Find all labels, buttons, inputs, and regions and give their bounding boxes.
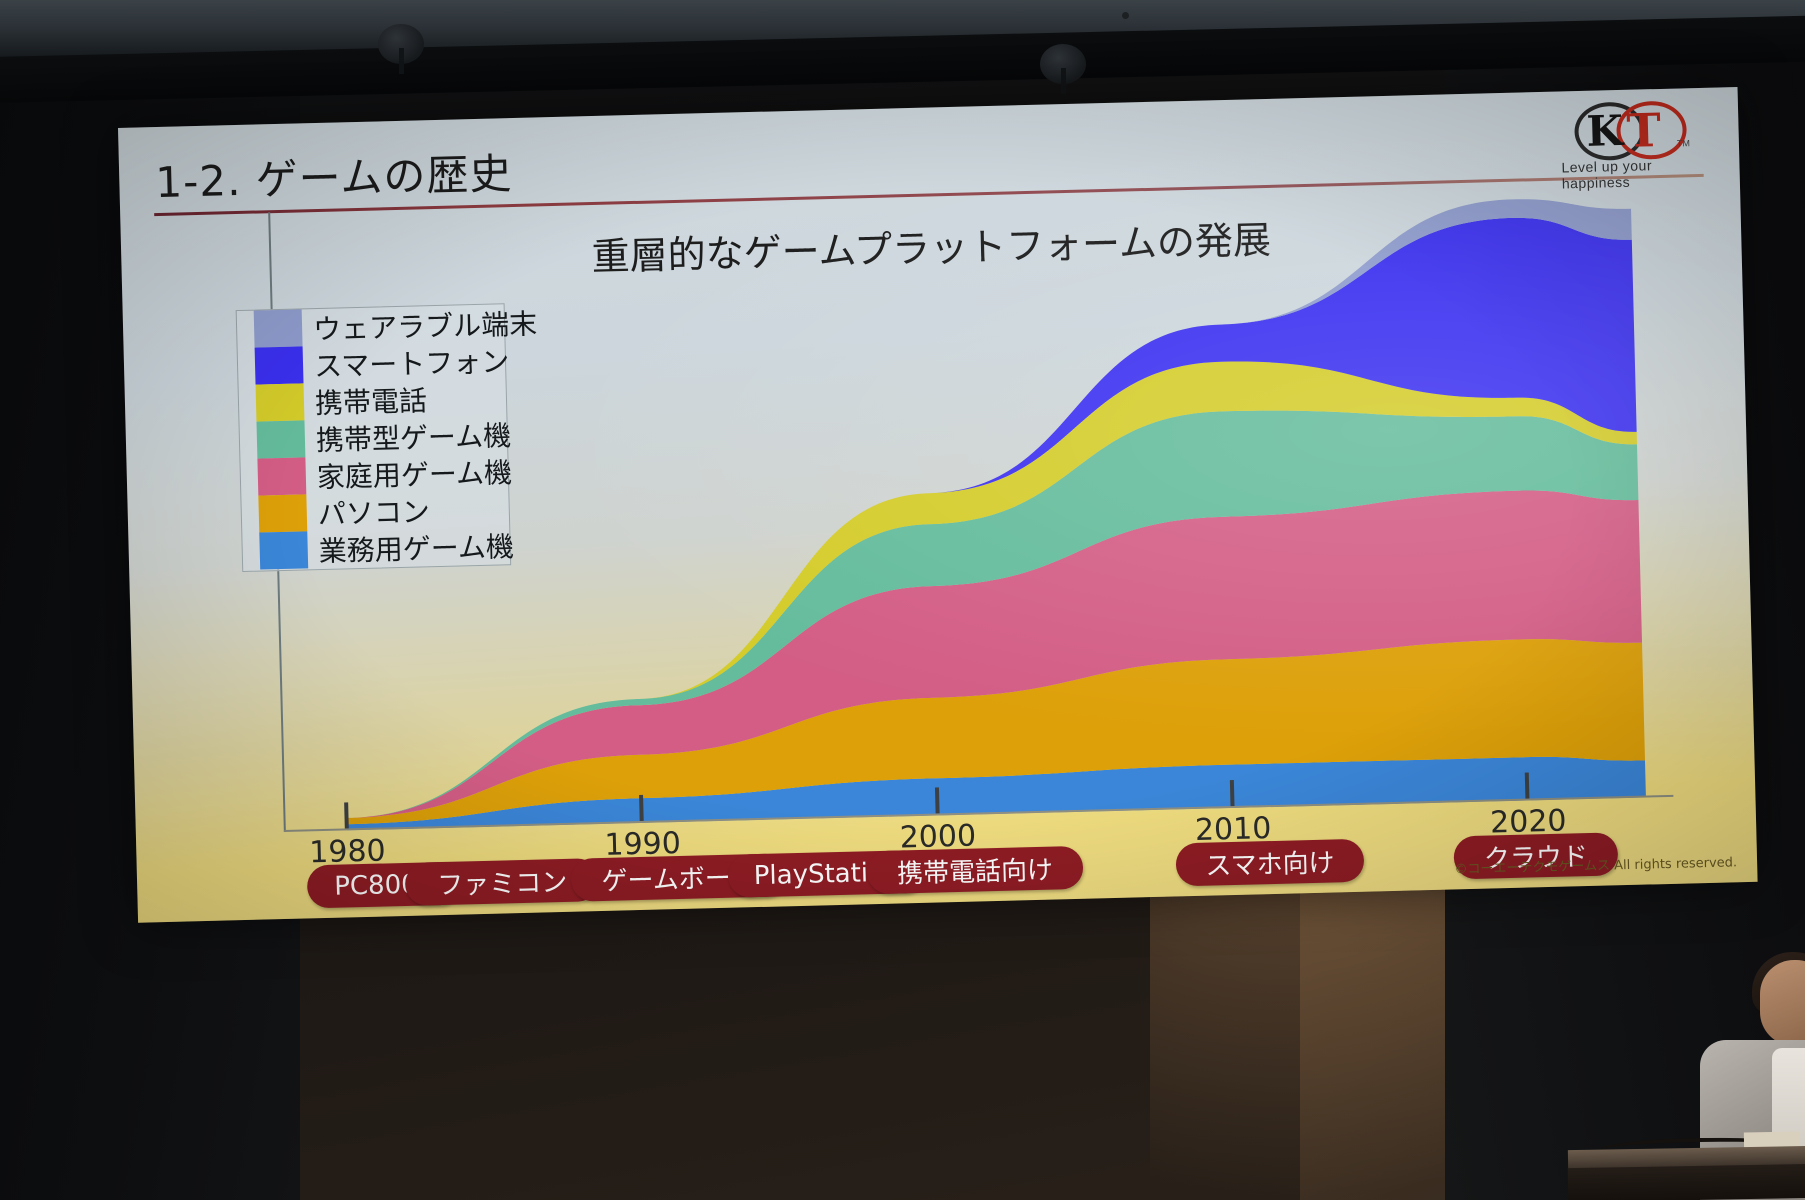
logo-trademark-icon: TM — [1677, 138, 1690, 148]
timeline-pill: スマホ向け — [1175, 839, 1364, 887]
presentation-slide: 1-2. ゲームの歴史 K T TM Level up your happine… — [118, 87, 1758, 923]
timeline-pill-label: ファミコン — [437, 862, 568, 902]
legend-swatch-icon — [254, 309, 303, 347]
logo-letter-k: K — [1586, 106, 1624, 156]
ceiling-speaker-icon — [1040, 44, 1086, 84]
legend-swatch-icon — [258, 494, 307, 532]
legend-item-label: 家庭用ゲーム機 — [316, 451, 512, 496]
x-axis-tick — [935, 787, 940, 813]
timeline-pill-label: スマホ向け — [1205, 842, 1335, 882]
legend-swatch-icon — [255, 346, 304, 384]
timeline-pill-label: 携帯電話向け — [897, 850, 1054, 891]
x-axis-tick — [639, 795, 644, 821]
legend-swatch-icon — [256, 383, 305, 421]
legend-item-label: 業務用ゲーム機 — [318, 525, 514, 570]
x-axis-tick — [344, 802, 349, 828]
panel-desk-front — [1568, 1164, 1805, 1200]
legend-swatch-icon — [256, 420, 305, 458]
slide-title: 1-2. ゲームの歴史 — [155, 140, 513, 210]
logo-letter-t: T — [1626, 103, 1662, 158]
photo-of-presentation-screen: 1-2. ゲームの歴史 K T TM Level up your happine… — [0, 0, 1805, 1200]
legend-swatch-icon — [259, 531, 308, 569]
x-axis-tick — [1230, 780, 1235, 806]
legend-item-label: スマートフォン — [314, 340, 510, 385]
projection-screen: 1-2. ゲームの歴史 K T TM Level up your happine… — [118, 87, 1763, 928]
legend-item-label: パソコン — [317, 490, 430, 533]
person-head — [1760, 960, 1805, 1046]
chart-legend: ウェアラブル端末スマートフォン携帯電話携帯型ゲーム機家庭用ゲーム機パソコン業務用… — [236, 303, 512, 572]
ceiling-speaker-icon — [378, 24, 424, 64]
legend-swatch-icon — [257, 457, 306, 495]
timeline-pill: 携帯電話向け — [867, 846, 1084, 894]
x-axis-tick — [1525, 772, 1530, 798]
ceiling-sensor-icon — [1122, 12, 1129, 19]
legend-item: 業務用ゲーム機 — [242, 526, 510, 570]
kt-logo: K T TM Level up your happiness — [1564, 98, 1716, 180]
